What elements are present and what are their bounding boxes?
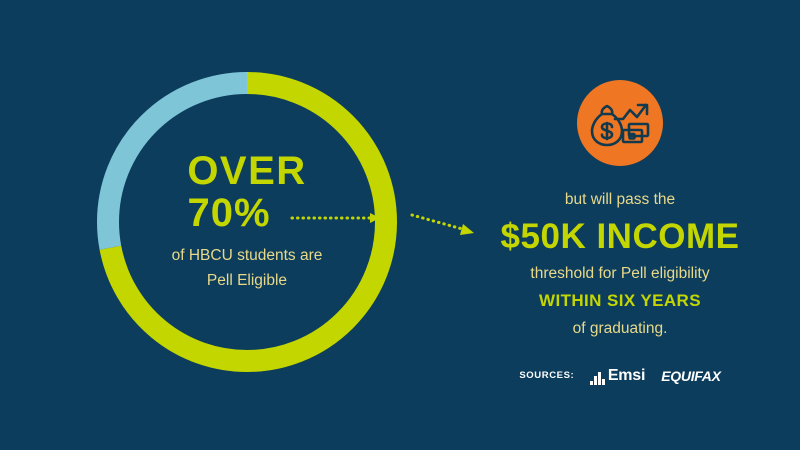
stat-percentage: 70%	[187, 193, 270, 233]
income-threshold-text: threshold for Pell eligibility	[530, 262, 709, 286]
sources-row: SOURCES: Emsi EQUIFAX	[519, 367, 720, 385]
donut-chart: OVER 70% of HBCU students are Pell Eligi…	[97, 72, 397, 372]
money-growth-glyph	[589, 97, 651, 149]
right-content-block: but will pass the $50K INCOME threshold …	[450, 70, 790, 400]
emsi-logo: Emsi	[590, 367, 645, 385]
donut-center-text: OVER 70% of HBCU students are Pell Eligi…	[97, 72, 397, 372]
income-lead-text: but will pass the	[565, 188, 675, 212]
income-closing-text: of graduating.	[573, 317, 668, 341]
stat-over-label: OVER	[187, 151, 306, 191]
income-headline: $50K INCOME	[501, 218, 740, 256]
equifax-logo: EQUIFAX	[661, 368, 720, 384]
emsi-logo-text: Emsi	[608, 367, 645, 385]
stat-description-line-1: of HBCU students are	[172, 243, 323, 268]
infographic-canvas: OVER 70% of HBCU students are Pell Eligi…	[0, 0, 800, 450]
stat-description-line-2: Pell Eligible	[207, 268, 287, 293]
money-growth-icon	[577, 80, 663, 166]
sources-label: SOURCES:	[519, 370, 574, 381]
income-timeframe: WITHIN SIX YEARS	[539, 291, 701, 311]
bar-chart-icon	[590, 372, 605, 385]
